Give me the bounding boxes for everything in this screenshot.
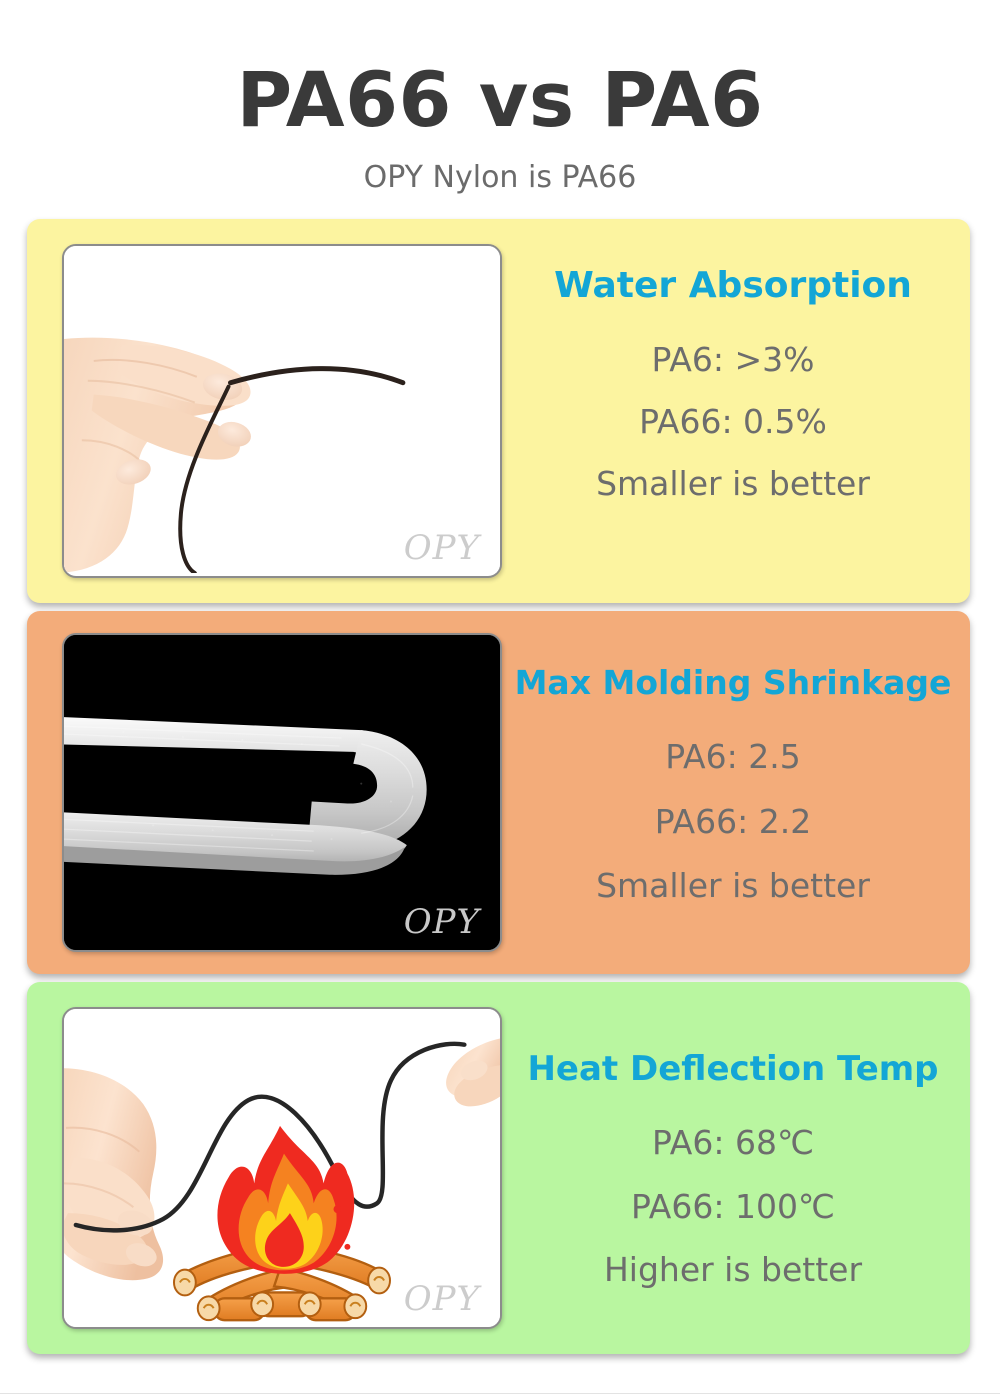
page-subtitle: OPY Nylon is PA66 <box>0 160 1000 195</box>
card-title: Max Molding Shrinkage <box>515 665 952 701</box>
photo-panel-water-absorption: OPY <box>62 244 502 578</box>
page-title: PA66 vs PA6 <box>0 62 1000 138</box>
spec-row-pa66: PA66: 2.2 <box>655 804 811 840</box>
card-water-absorption: OPY Water Absorption PA6: >3% PA66: 0.5%… <box>27 219 970 603</box>
spec-note: Smaller is better <box>596 466 870 502</box>
info-max-molding-shrinkage: Max Molding Shrinkage PA6: 2.5 PA66: 2.2… <box>502 633 970 952</box>
opy-watermark: OPY <box>404 902 480 942</box>
spec-row-pa66: PA66: 0.5% <box>639 404 827 440</box>
hand-holding-filament-illustration <box>64 246 500 573</box>
spec-row-pa6: PA6: 68℃ <box>652 1125 814 1161</box>
card-heat-deflection-temp: OPY Heat Deflection Temp PA6: 68℃ PA66: … <box>27 982 970 1354</box>
opy-watermark: OPY <box>404 528 480 568</box>
comparison-card-list: OPY Water Absorption PA6: >3% PA66: 0.5%… <box>0 219 1000 1354</box>
spec-row-pa6: PA6: >3% <box>652 342 815 378</box>
spec-row-pa66: PA66: 100℃ <box>631 1189 835 1225</box>
spec-note: Smaller is better <box>596 868 870 904</box>
card-title: Water Absorption <box>554 266 912 306</box>
info-heat-deflection-temp: Heat Deflection Temp PA6: 68℃ PA66: 100℃… <box>502 1007 970 1329</box>
card-max-molding-shrinkage: OPY Max Molding Shrinkage PA6: 2.5 PA66:… <box>27 611 970 974</box>
photo-panel-molding-shrinkage: OPY <box>62 633 502 952</box>
bottom-divider <box>0 1393 1000 1394</box>
opy-watermark: OPY <box>404 1279 480 1319</box>
header: PA66 vs PA6 OPY Nylon is PA66 <box>0 0 1000 195</box>
photo-panel-heat-deflection: OPY <box>62 1007 502 1329</box>
spec-row-pa6: PA6: 2.5 <box>665 739 800 775</box>
card-title: Heat Deflection Temp <box>527 1051 938 1088</box>
spec-note: Higher is better <box>604 1252 862 1288</box>
info-water-absorption: Water Absorption PA6: >3% PA66: 0.5% Sma… <box>502 244 970 578</box>
infographic-page: PA66 vs PA6 OPY Nylon is PA66 <box>0 0 1000 1400</box>
